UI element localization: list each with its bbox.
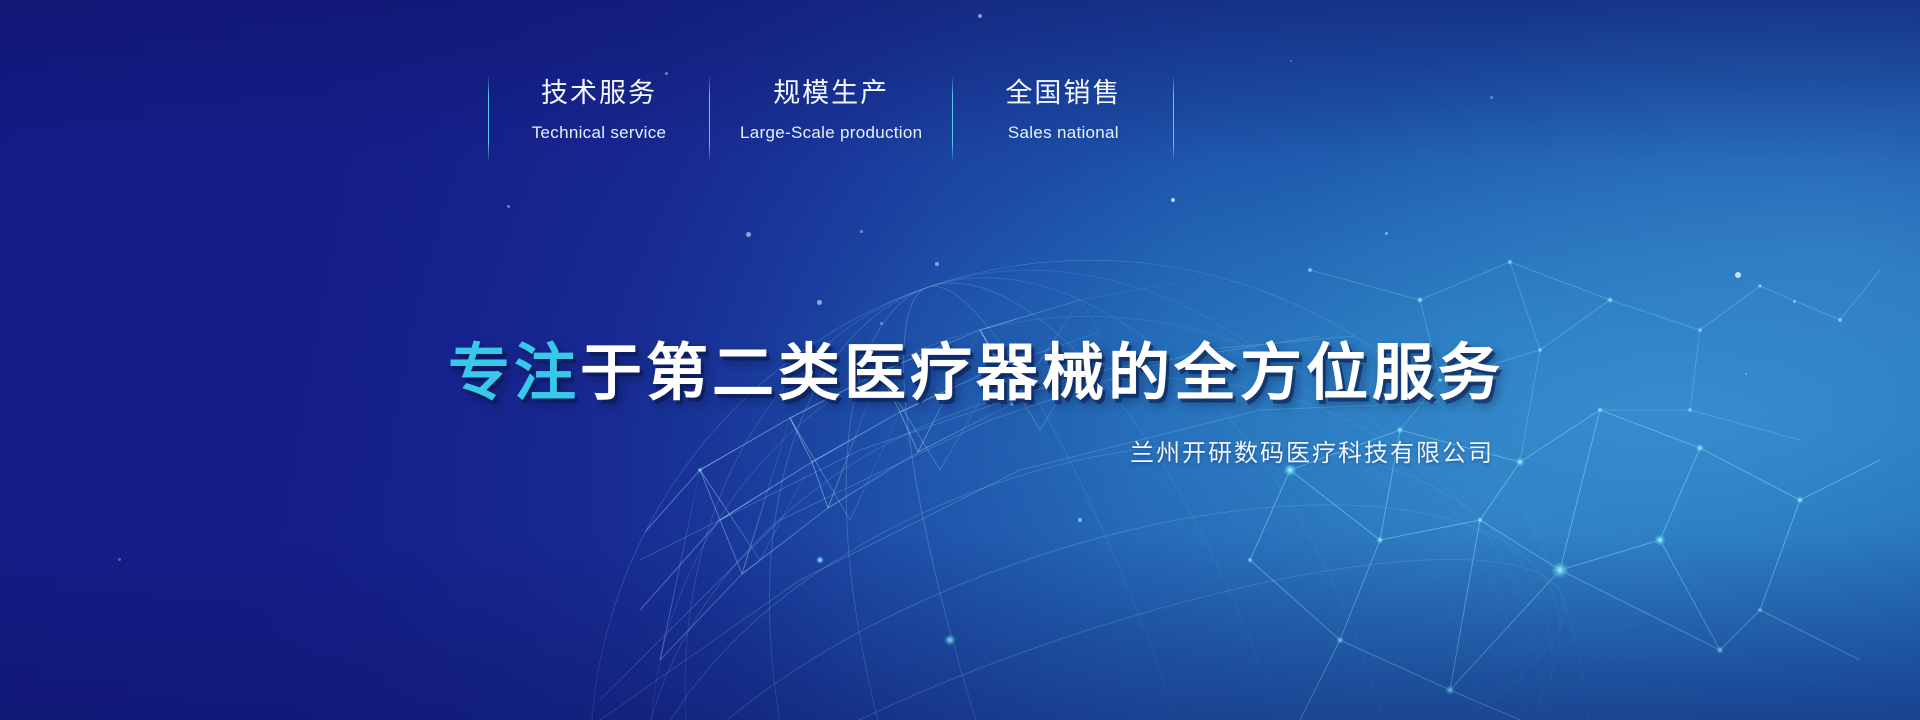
feature-strip: 技术服务 Technical service 规模生产 Large-Scale … <box>488 76 1174 162</box>
feature-title-en: Technical service <box>532 122 667 143</box>
feature-title-cn: 全国销售 <box>1005 76 1121 110</box>
feature-item-large-scale-production[interactable]: 规模生产 Large-Scale production <box>710 76 952 162</box>
feature-title-cn: 规模生产 <box>773 76 889 110</box>
headline-accent-text: 专注 <box>448 339 580 408</box>
hero-headline: 专注于第二类医疗器械的全方位服务 <box>448 338 1504 410</box>
feature-item-sales-national[interactable]: 全国销售 Sales national <box>953 76 1173 162</box>
feature-item-technical-service[interactable]: 技术服务 Technical service <box>489 76 709 162</box>
headline-main-text: 于第二类医疗器械的全方位服务 <box>580 339 1504 408</box>
feature-divider-3 <box>1173 77 1174 161</box>
hero-banner: 技术服务 Technical service 规模生产 Large-Scale … <box>0 0 1920 720</box>
company-name: 兰州开研数码医疗科技有限公司 <box>1130 438 1494 470</box>
feature-title-en: Sales national <box>1008 122 1119 143</box>
feature-title-en: Large-Scale production <box>740 122 922 143</box>
feature-title-cn: 技术服务 <box>541 76 657 110</box>
